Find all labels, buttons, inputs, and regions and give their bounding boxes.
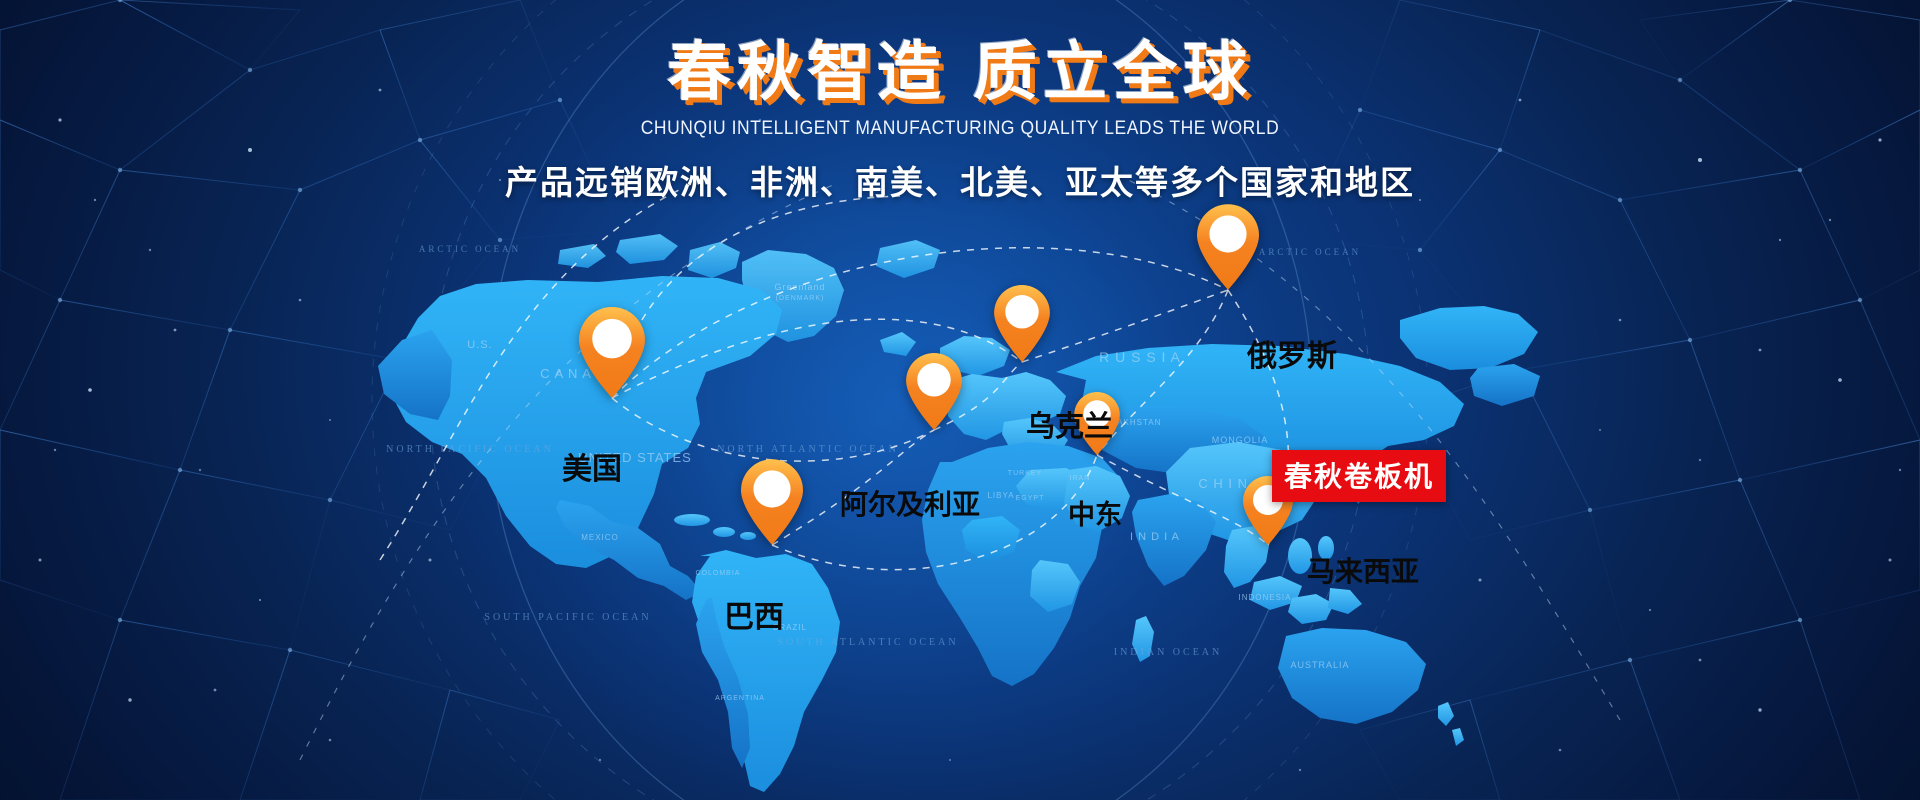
map-pin-ukraine[interactable] xyxy=(994,285,1050,362)
map-pin-label-middleeast: 中东 xyxy=(1068,493,1122,532)
map-pin-brazil[interactable] xyxy=(741,459,803,545)
product-badge[interactable]: 春秋卷板机 xyxy=(1272,450,1446,502)
page-title-part2: 质立全球 xyxy=(973,36,1253,108)
map-pin-algeria[interactable] xyxy=(906,353,962,430)
map-pin-label-russia: 俄罗斯 xyxy=(1247,331,1337,375)
page-title-part1: 春秋智造 xyxy=(667,36,947,108)
world-map-banner: U.S.C A N A D AGreenland(DENMARK)UNITED … xyxy=(0,0,1920,800)
banner-header: 春秋智造质立全球 CHUNQIU INTELLIGENT MANUFACTURI… xyxy=(0,40,1920,204)
map-pin-label-usa: 美国 xyxy=(562,444,622,488)
map-pin-label-brazil: 巴西 xyxy=(724,592,784,636)
tagline-chinese: 产品远销欧洲、非洲、南美、北美、亚太等多个国家和地区 xyxy=(0,156,1920,204)
map-pin-label-algeria: 阿尔及利亚 xyxy=(840,483,980,523)
map-pin-label-malaysia: 马来西亚 xyxy=(1307,550,1419,590)
page-title: 春秋智造质立全球 xyxy=(0,40,1920,104)
map-pin-usa[interactable] xyxy=(579,307,645,398)
map-pin-label-ukraine: 乌克兰 xyxy=(1026,403,1113,445)
subtitle-english: CHUNQIU INTELLIGENT MANUFACTURING QUALIT… xyxy=(77,118,1843,140)
map-pin-russia[interactable] xyxy=(1197,204,1259,290)
